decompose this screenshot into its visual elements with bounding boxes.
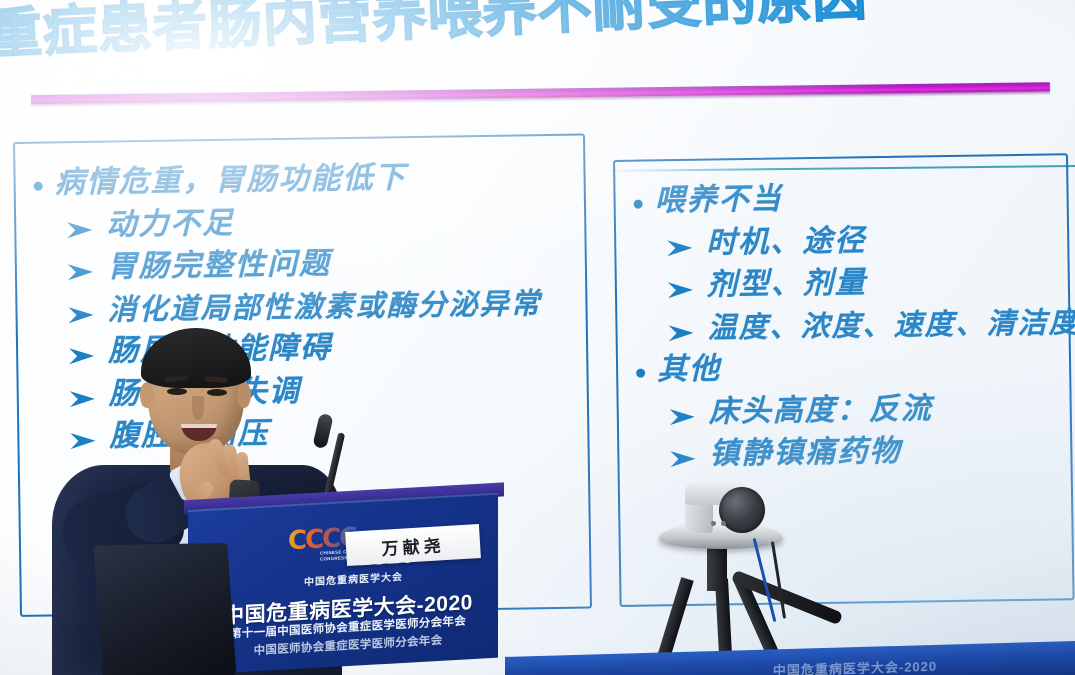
list-item-label: 肠屏障功能障碍 [108,328,333,371]
list-item-label: 镇静镇痛药物 [709,432,902,474]
arrow-bullet-icon [69,430,97,452]
list-item-label: 剂型、剂量 [707,263,868,305]
list-item: 床头高度：反流 [632,387,1056,433]
arrow-bullet-icon [669,448,697,470]
list-item: 动力不足 [30,198,571,246]
arrow-bullet-icon [66,218,94,240]
camera-indicator-led [721,521,726,526]
speaker-name: 万献尧 [381,531,445,560]
list-item-label: 时机、途径 [706,221,867,263]
list-item-label: 温度、浓度、速度、清洁度 [707,303,1075,347]
arrow-bullet-icon [667,279,695,301]
camera-lens [719,487,765,533]
laptop-on-podium [94,543,237,675]
list-item: 其他 [632,345,1056,391]
dot-bullet-icon [636,369,645,378]
list-item: 剂型、剂量 [631,261,1055,307]
list-item: 镇静镇痛药物 [633,430,1057,476]
list-item: 温度、浓度、速度、清洁度 [631,303,1055,348]
arrow-bullet-icon [666,236,694,258]
arrow-bullet-icon [669,405,697,427]
podium: CCCC CHINESE CRITICAL CARE CONGRESS 2020… [188,493,498,675]
camera-cable-black [771,541,786,619]
list-item: 胃肠完整性问题 [31,241,572,289]
list-item-label: 喂养不当 [654,179,783,220]
dot-bullet-icon [34,182,43,191]
list-item-label: 腹腔内高压 [109,414,270,456]
arrow-bullet-icon [68,345,96,367]
arrow-bullet-icon [67,304,95,326]
list-item-label: 胃肠完整性问题 [107,244,332,287]
dot-bullet-icon [634,200,643,209]
list-item: 肠道菌群失调 [32,367,573,415]
list-item: 喂养不当 [629,175,1053,221]
tripod-column [707,545,727,591]
ptz-camera-rig [645,475,835,675]
list-item-label: 肠道菌群失调 [108,371,301,413]
arrow-bullet-icon [69,387,97,409]
list-item: 病情危重，胃肠功能低下 [29,156,570,204]
congress-logo-chinese: 中国危重病医学大会 [304,568,403,589]
list-item-label: 床头高度：反流 [708,389,933,432]
arrow-bullet-icon [67,261,95,283]
camera-base [659,523,783,549]
arrow-bullet-icon [667,322,695,344]
camera-indicator-led [711,521,716,526]
list-item-label: 动力不足 [106,203,235,244]
list-item-label: 消化道局部性激素或酶分泌异常 [107,284,542,329]
list-item-label: 病情危重，胃肠功能低下 [54,158,407,203]
list-item: 时机、途径 [630,218,1054,264]
list-item-label: 其他 [657,349,722,390]
list-item: 腹腔内高压 [33,410,574,458]
presentation-photo-scene: 重症患者肠内营养喂养不耐受的原因 病情危重，胃肠功能低下 动力不足 胃肠完整性问… [0,0,1075,675]
list-item: 肠屏障功能障碍 [32,325,573,373]
list-item: 消化道局部性激素或酶分泌异常 [31,284,572,330]
